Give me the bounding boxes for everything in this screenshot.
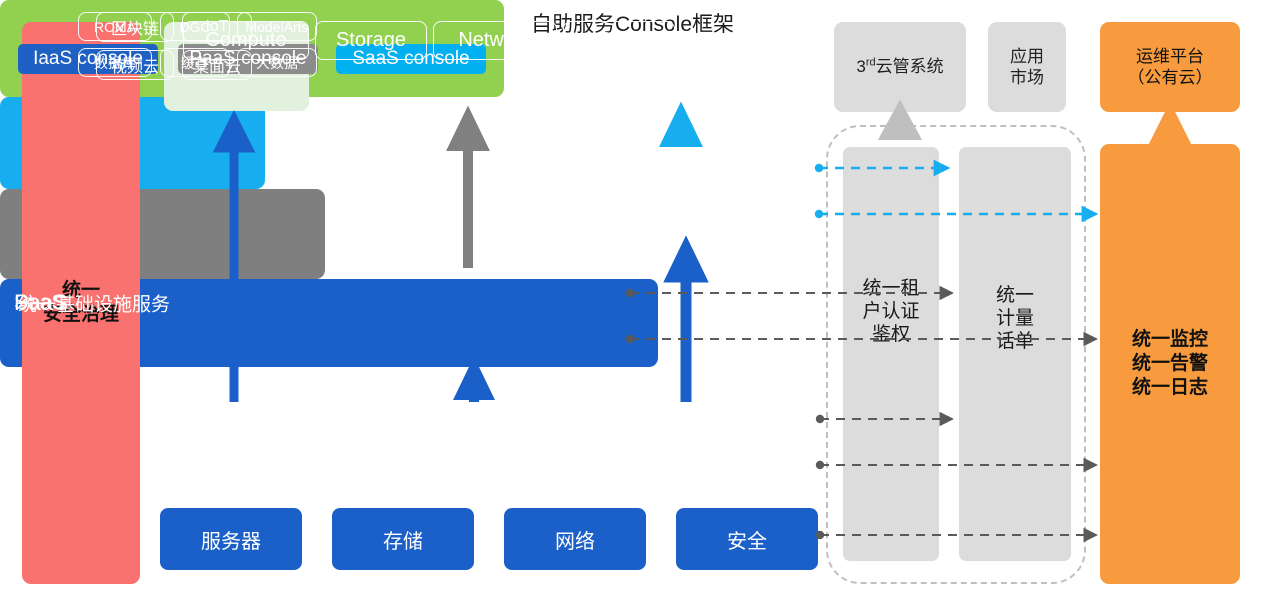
- arrow-saas-to-console: [667, 113, 695, 146]
- infra-service-cce[interactable]: CCE: [563, 21, 675, 60]
- infra-service-compute[interactable]: Compute: [183, 21, 309, 60]
- unified-metering-billing-bar: [959, 147, 1071, 561]
- auth-line-3: 鉴权: [843, 323, 939, 346]
- ops-col-line-2: 统一告警: [1132, 352, 1208, 376]
- ops-col-line-3: 统一日志: [1132, 376, 1208, 400]
- third-party-cloud-label: 3rd云管系统: [856, 56, 943, 77]
- ops-platform-label: 运维平台 （公有云）: [1128, 46, 1213, 89]
- hardware-label: 网络: [555, 525, 595, 554]
- ops-platform-line-1: 运维平台: [1128, 46, 1213, 67]
- hardware-label: 存储: [383, 525, 423, 554]
- paas-service-label: ROMA: [94, 19, 136, 35]
- infra-service-label: CCE: [598, 29, 640, 52]
- meter-line-1: 统一: [959, 284, 1071, 307]
- third-party-sup: rd: [866, 57, 876, 69]
- arrow-infra-to-paas: [461, 368, 487, 402]
- hardware-server-box[interactable]: 服务器: [160, 508, 302, 570]
- infra-service-label: Network: [458, 29, 531, 52]
- third-party-cloud-management-box: 3rd云管系统: [834, 22, 966, 112]
- infra-service-network[interactable]: Network: [433, 21, 557, 60]
- unified-tenant-auth-bar: [843, 147, 939, 561]
- auth-line-1: 统一租: [843, 277, 939, 300]
- hardware-network-box[interactable]: 网络: [504, 508, 646, 570]
- meter-line-3: 话单: [959, 330, 1071, 353]
- app-market-box: 应用 市场: [988, 22, 1066, 112]
- unified-infrastructure-label: 统一基础设施服务: [18, 289, 170, 316]
- infra-service-label: Compute: [205, 29, 286, 52]
- infra-service-label: Storage: [336, 29, 406, 52]
- app-market-line-1: 应用: [1010, 46, 1044, 67]
- arrow-infra-to-saas: [672, 248, 700, 402]
- hardware-label: 安全: [727, 525, 767, 554]
- unified-metering-billing-label: 统一 计量 话单: [959, 284, 1071, 354]
- hardware-label: 服务器: [201, 525, 261, 554]
- ops-col-line-1: 统一监控: [1132, 328, 1208, 352]
- third-party-prefix: 3: [856, 57, 865, 76]
- paas-service-roma[interactable]: ROMA: [78, 12, 152, 41]
- unified-tenant-auth-label: 统一租 户认证 鉴权: [843, 277, 939, 347]
- hardware-security-box[interactable]: 安全: [676, 508, 818, 570]
- hardware-storage-box[interactable]: 存储: [332, 508, 474, 570]
- paas-service-label: 数据库: [94, 53, 136, 73]
- meter-line-2: 计量: [959, 307, 1071, 330]
- unified-monitoring-label: 统一监控 统一告警 统一日志: [1132, 328, 1208, 399]
- ops-platform-line-2: （公有云）: [1128, 67, 1213, 88]
- third-party-suffix: 云管系统: [876, 57, 944, 76]
- architecture-diagram: 统一 安全治理 API网关 自助服务Console框架 IaaS console…: [0, 0, 1265, 605]
- unified-monitoring-column: 统一监控 统一告警 统一日志: [1100, 144, 1240, 584]
- arrow-ops-column-to-ops-platform: [1157, 114, 1183, 144]
- ops-platform-public-cloud-box: 运维平台 （公有云）: [1100, 22, 1240, 112]
- paas-service-database[interactable]: 数据库: [78, 48, 152, 77]
- infra-service-storage[interactable]: Storage: [315, 21, 427, 60]
- arrow-paas-to-console: [454, 117, 482, 268]
- app-market-label: 应用 市场: [1010, 46, 1044, 89]
- auth-line-2: 户认证: [843, 300, 939, 323]
- app-market-line-2: 市场: [1010, 67, 1044, 88]
